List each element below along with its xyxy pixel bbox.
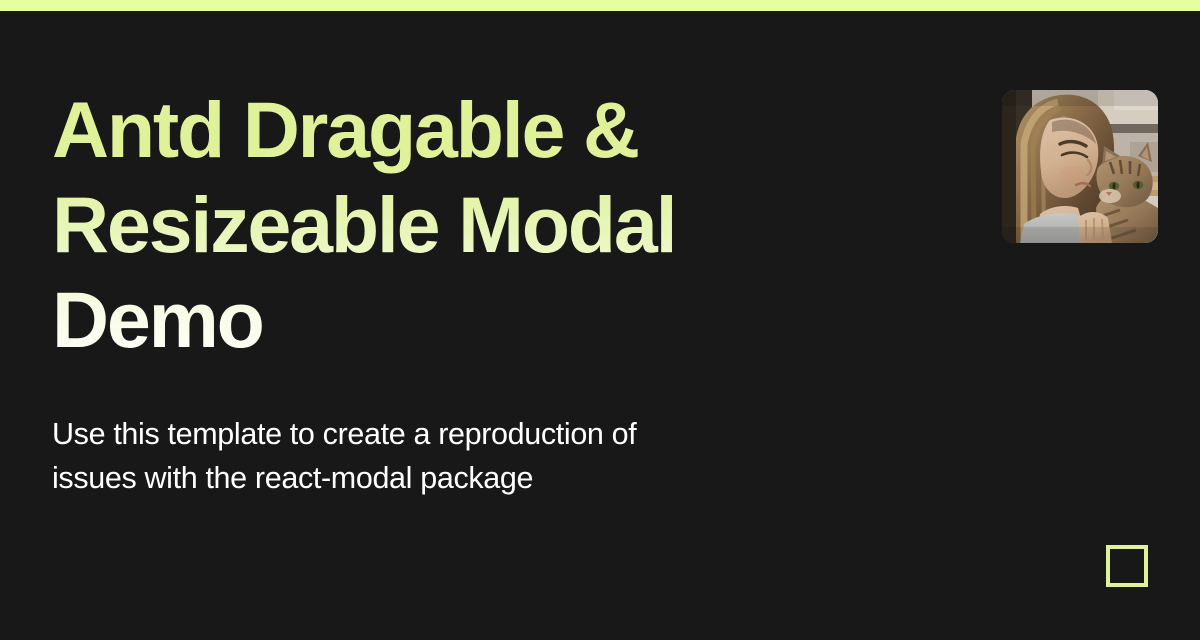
avatar-photo-illustration xyxy=(1002,90,1158,243)
avatar xyxy=(1002,90,1158,243)
page-subtitle: Use this template to create a reproducti… xyxy=(52,412,842,500)
top-accent-bar xyxy=(0,0,1200,11)
square-outline-icon xyxy=(1106,545,1148,587)
content-column: Antd Dragable & Resizeable Modal Demo Us… xyxy=(52,82,842,500)
page-title: Antd Dragable & Resizeable Modal Demo xyxy=(52,82,842,367)
og-card: Antd Dragable & Resizeable Modal Demo Us… xyxy=(0,0,1200,640)
